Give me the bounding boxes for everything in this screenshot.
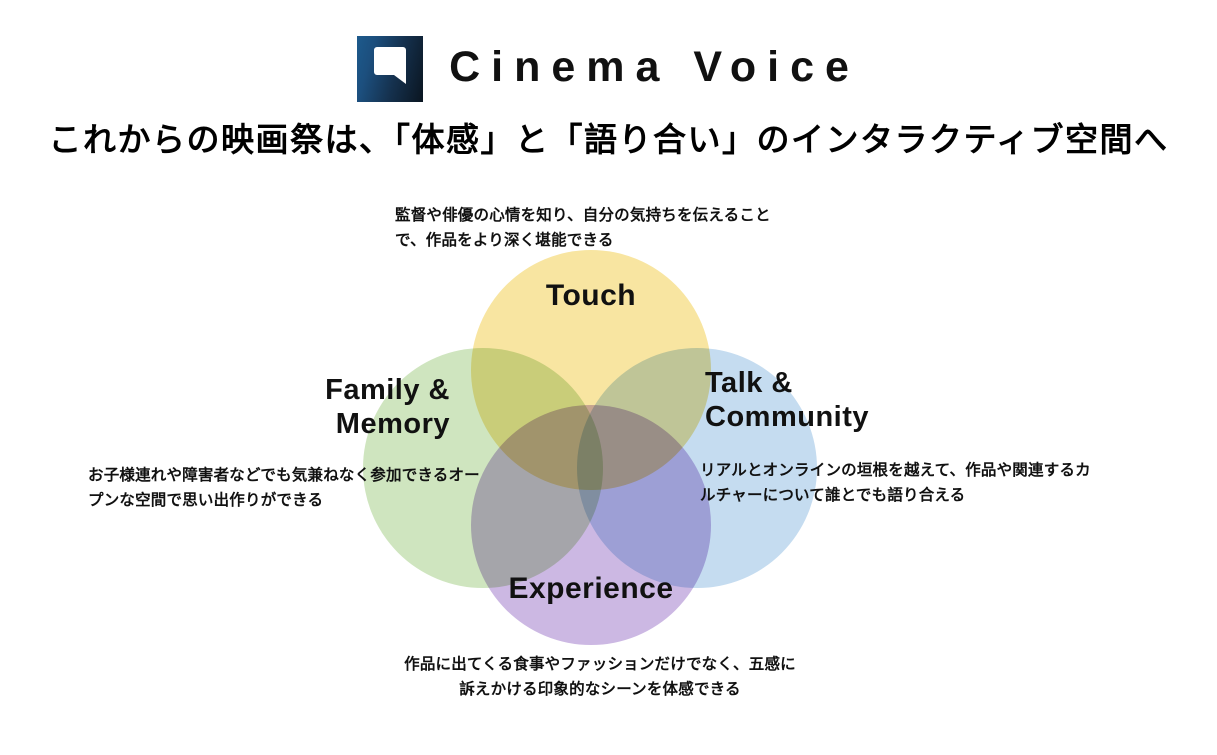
venn-label-family-line2: Memory xyxy=(58,407,450,441)
venn-label-talk-community: Talk & Community xyxy=(705,366,945,434)
venn-label-experience: Experience xyxy=(471,571,711,606)
caption-family-memory: お子様連れや障害者などでも気兼ねなく参加できるオープンな空間で思い出作りができる xyxy=(88,463,488,513)
caption-experience: 作品に出てくる食事やファッションだけでなく、五感に訴えかける印象的なシーンを体感… xyxy=(400,652,800,702)
venn-label-family-line1: Family & xyxy=(58,373,450,407)
venn-label-family-memory: Family & Memory xyxy=(58,373,450,441)
caption-talk-community: リアルとオンラインの垣根を越えて、作品や関連するカルチャーについて誰とでも語り合… xyxy=(700,458,1100,508)
venn-label-touch: Touch xyxy=(471,278,711,313)
venn-label-talk-line2: Community xyxy=(705,400,945,434)
venn-circle-experience xyxy=(471,405,711,645)
caption-touch: 監督や俳優の心情を知り、自分の気持ちを伝えることで、作品をより深く堪能できる xyxy=(395,203,795,253)
venn-diagram: Touch Talk & Community Family & Memory E… xyxy=(0,0,1217,755)
venn-label-talk-line1: Talk & xyxy=(705,366,945,400)
slide-canvas: Cinema Voice これからの映画祭は、「体感」と「語り合い」のインタラク… xyxy=(0,0,1217,755)
